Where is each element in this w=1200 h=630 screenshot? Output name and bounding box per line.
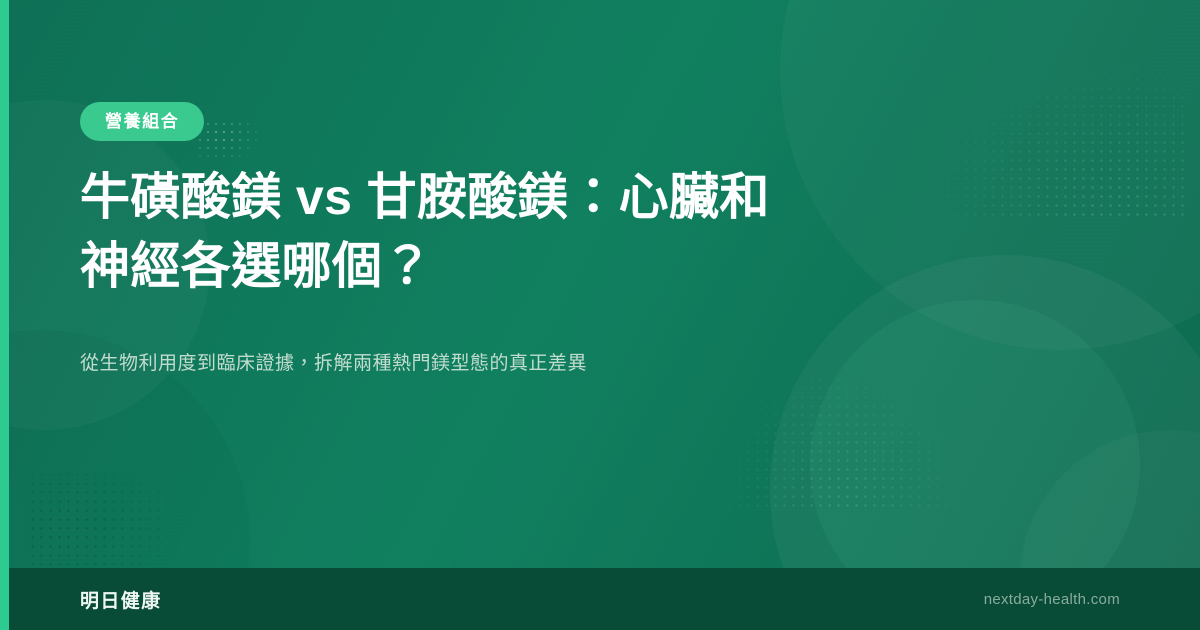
left-accent-bar (0, 0, 9, 630)
footer-site-url: nextday-health.com (984, 591, 1120, 608)
footer-brand-name: 明日健康 (80, 586, 162, 613)
card-footer: 明日健康 nextday-health.com (0, 568, 1200, 630)
category-badge[interactable]: 營養組合 (80, 102, 204, 141)
social-share-card: 營養組合 牛磺酸鎂 vs 甘胺酸鎂：心臟和神經各選哪個？ 從生物利用度到臨床證據… (0, 0, 1200, 630)
page-title: 牛磺酸鎂 vs 甘胺酸鎂：心臟和神經各選哪個？ (80, 163, 780, 301)
card-content: 營養組合 牛磺酸鎂 vs 甘胺酸鎂：心臟和神經各選哪個？ 從生物利用度到臨床證據… (80, 0, 880, 568)
page-subtitle: 從生物利用度到臨床證據，拆解兩種熱門鎂型態的真正差異 (80, 349, 800, 379)
